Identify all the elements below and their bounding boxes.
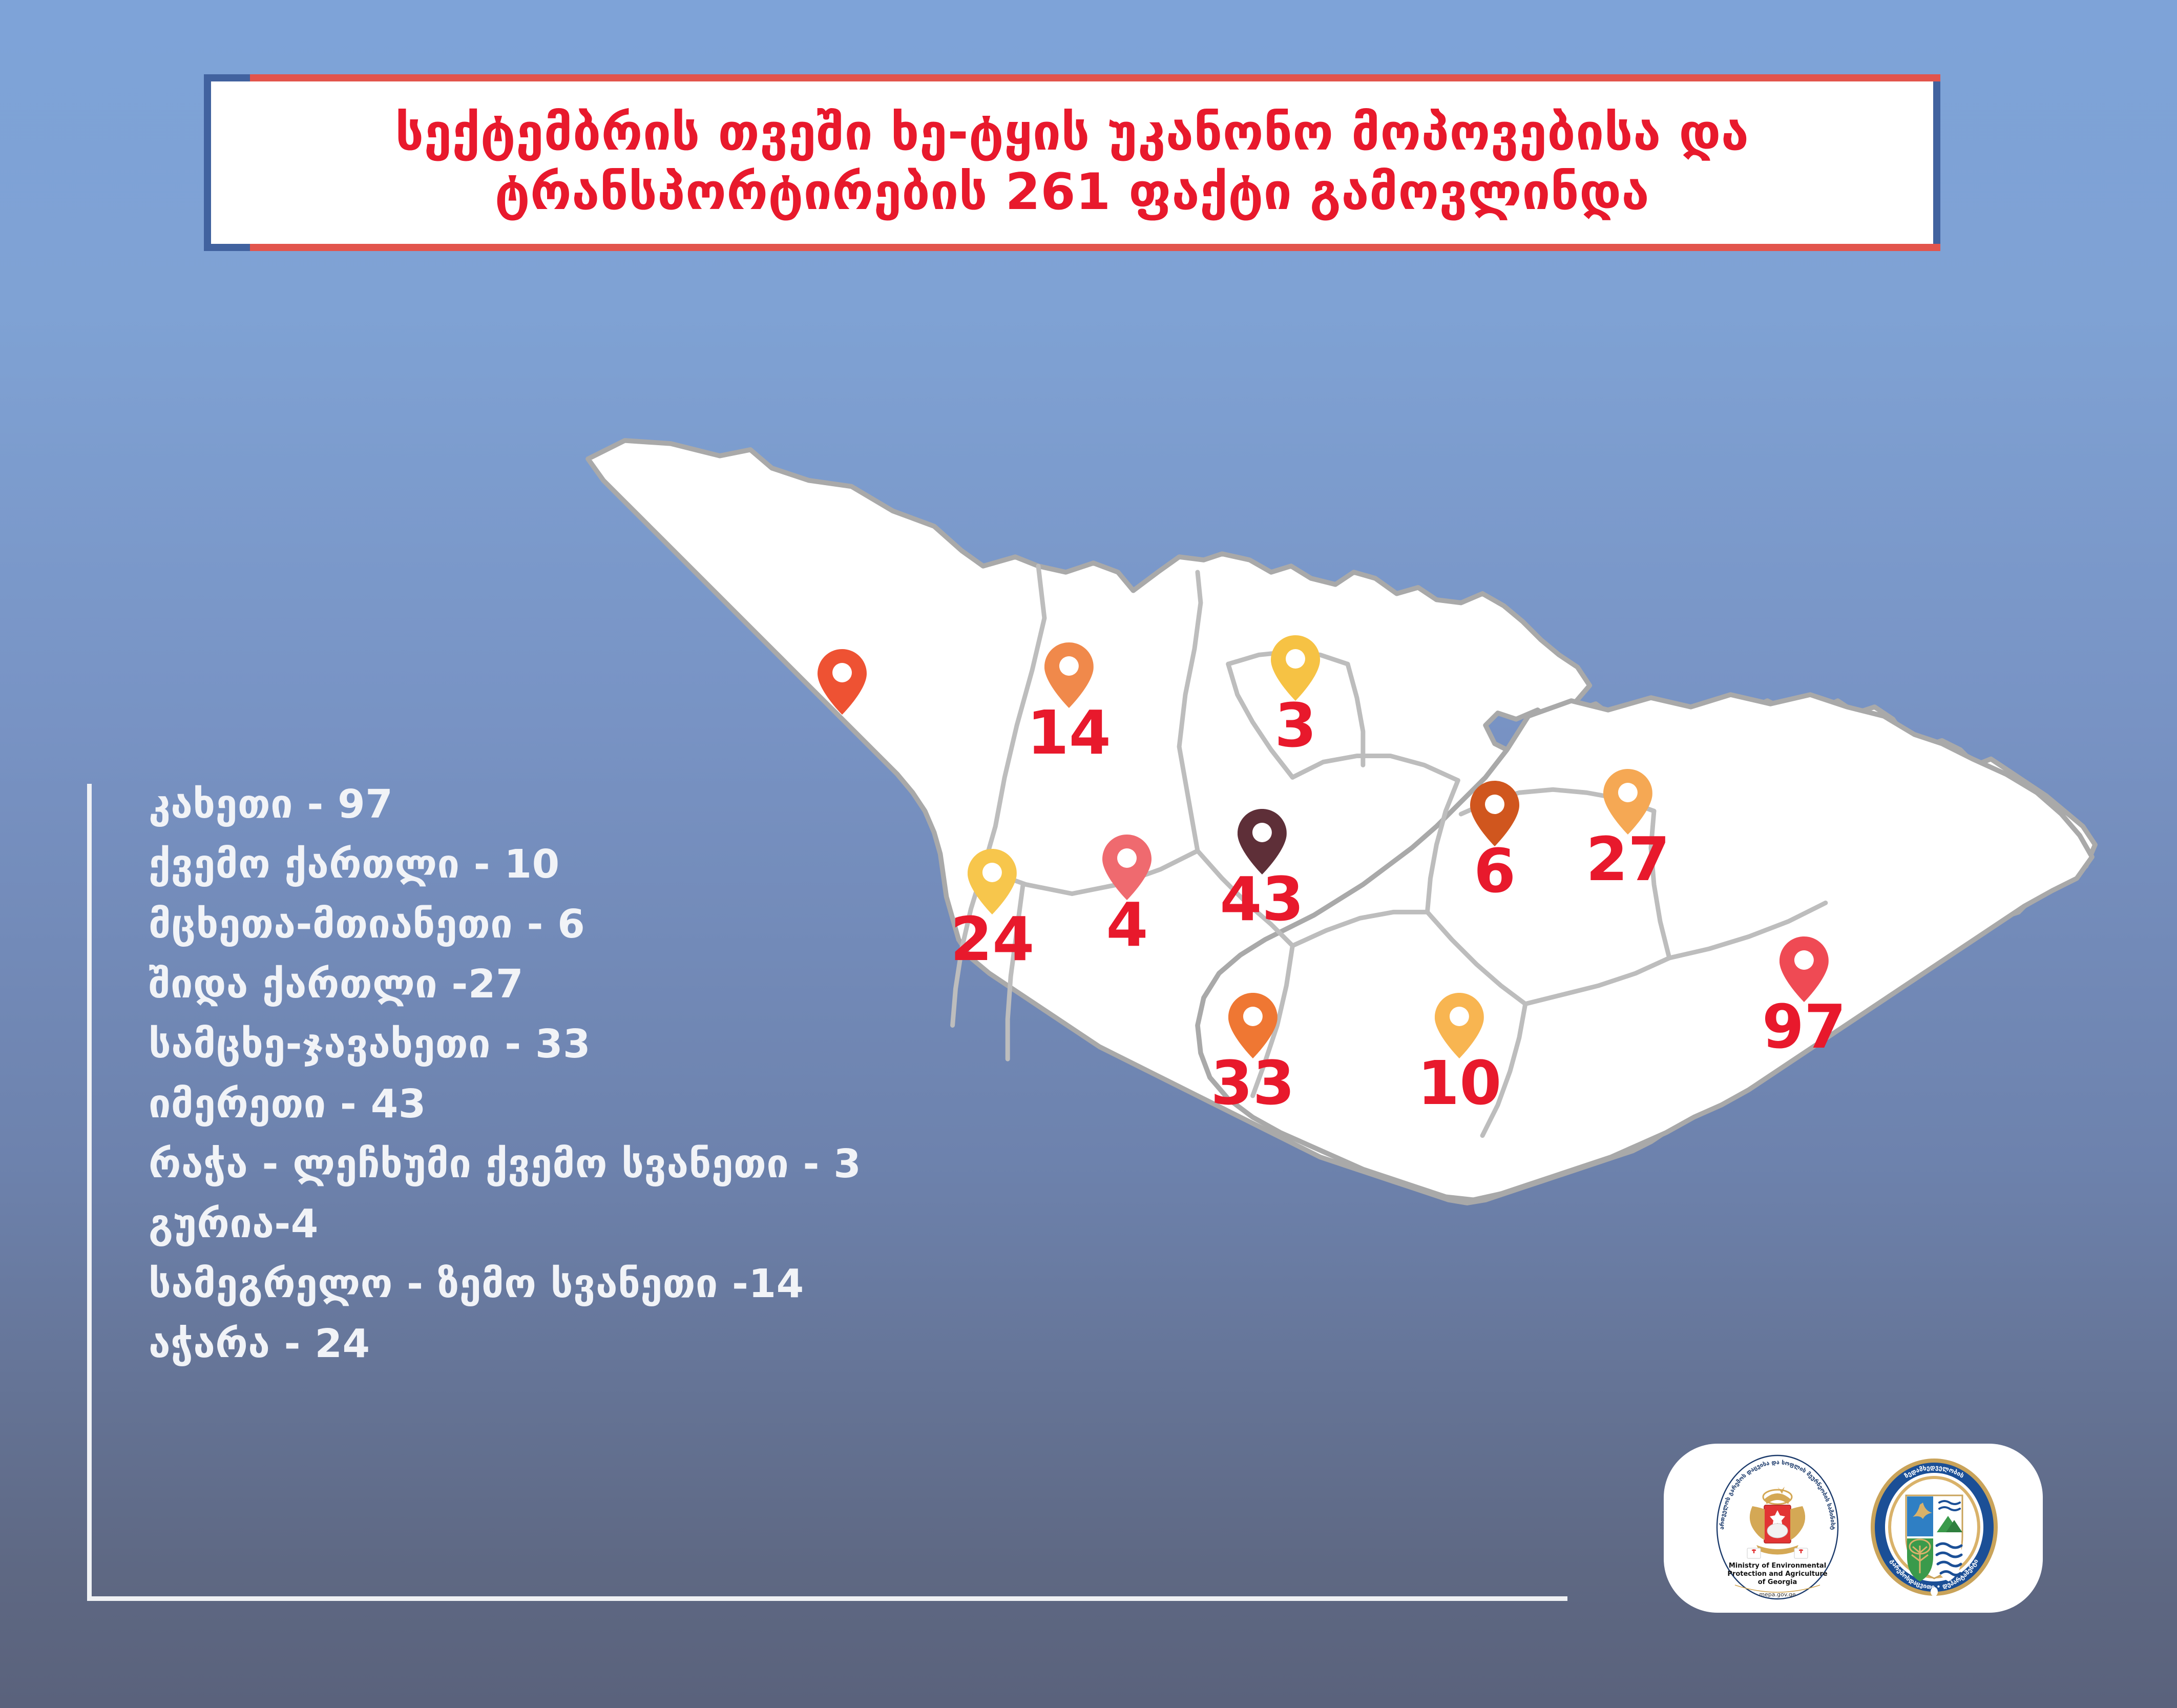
ministry-name-en-line2: Protection and Agriculture xyxy=(1727,1570,1827,1578)
title-banner: სექტემბრის თვეში ხე-ტყის უკანონო მოპოვებ… xyxy=(204,74,1940,251)
ministry-name-en-line3: of Georgia xyxy=(1758,1578,1797,1586)
title-line-2: ტრანსპორტირების 261 ფაქტი გამოვლინდა xyxy=(495,163,1649,222)
title-line-1: სექტემბრის თვეში ხე-ტყის უკანონო მოპოვებ… xyxy=(395,103,1749,163)
marker-value: 3 xyxy=(1274,697,1316,754)
department-emblem-svg: ზედამხედველობის გარემოსდაცვითი • დეპარტა… xyxy=(1865,1455,2003,1599)
department-logo: ზედამხედველობის გარემოსდაცვითი • დეპარტა… xyxy=(1865,1455,2003,1601)
legend-item: იმერეთი - 43 xyxy=(149,1074,1480,1134)
legend-item: კახეთი - 97 xyxy=(149,775,1480,835)
ministry-emblem-svg: საქართველოს გარემოს დაცვისა და სოფლის მე… xyxy=(1703,1453,1852,1601)
legend-item: შიდა ქართლი -27 xyxy=(149,954,1480,1014)
legend-item: რაჭა - ლეჩხუმი ქვემო სვანეთი - 3 xyxy=(149,1134,1480,1194)
map-pin-icon xyxy=(818,649,867,715)
ministry-name-en-line1: Ministry of Environmental xyxy=(1729,1562,1826,1570)
legend-item: ქვემო ქართლი - 10 xyxy=(149,835,1480,894)
logo-card: საქართველოს გარემოს დაცვისა და სოფლის მე… xyxy=(1664,1444,2043,1613)
marker-value: 14 xyxy=(1027,704,1111,761)
marker-shida[interactable]: 27 xyxy=(1586,769,1670,888)
marker-abkhazia[interactable] xyxy=(818,649,867,715)
marker-value: 27 xyxy=(1586,830,1670,888)
ministry-logo: საქართველოს გარემოს დაცვისა და სოფლის მე… xyxy=(1703,1453,1852,1603)
legend-item: სამცხე-ჯავახეთი - 33 xyxy=(149,1014,1480,1074)
department-shield xyxy=(1906,1495,1962,1581)
marker-kakheti[interactable]: 97 xyxy=(1762,936,1846,1055)
marker-value: 97 xyxy=(1762,998,1846,1055)
marker-samegrelo[interactable]: 14 xyxy=(1027,642,1111,761)
legend-list: კახეთი - 97ქვემო ქართლი - 10მცხეთა-მთიან… xyxy=(149,775,1480,1374)
legend-item: გურია-4 xyxy=(149,1194,1480,1254)
legend-item: აჭარა - 24 xyxy=(149,1314,1480,1374)
ministry-website: mepa.gov.ge xyxy=(1759,1591,1796,1598)
legend-item: მცხეთა-მთიანეთი - 6 xyxy=(149,894,1480,954)
legend-item: სამეგრელო - ზემო სვანეთი -14 xyxy=(149,1254,1480,1314)
marker-racha[interactable]: 3 xyxy=(1271,635,1320,754)
